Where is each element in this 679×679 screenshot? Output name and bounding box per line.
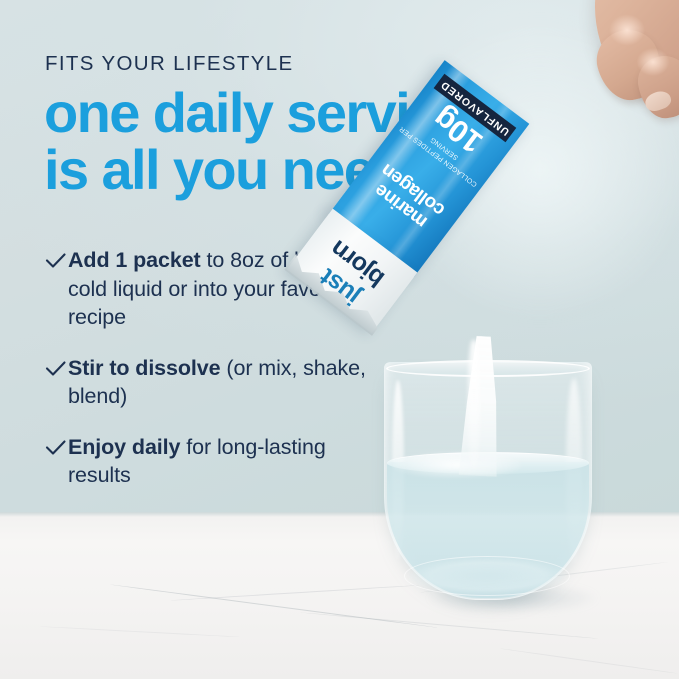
knuckle-highlight (632, 44, 674, 80)
list-item-bold: Add 1 packet (68, 248, 201, 272)
list-item-bold: Enjoy daily (68, 435, 180, 459)
eyebrow-text: FITS YOUR LIFESTYLE (45, 52, 294, 76)
check-icon (44, 356, 68, 382)
list-item: Stir to dissolve (or mix, shake, blend) (44, 354, 374, 411)
list-item: Enjoy daily for long-lasting results (44, 433, 374, 490)
check-icon (44, 435, 68, 461)
list-item-text: Stir to dissolve (or mix, shake, blend) (68, 354, 374, 411)
glass-base (404, 556, 570, 596)
knuckle-highlight (604, 10, 650, 50)
lifestyle-promo-image: FITS YOUR LIFESTYLE one daily serving is… (0, 0, 679, 679)
dissolving-powder-cloud (392, 452, 522, 478)
list-item-text: Enjoy daily for long-lasting results (68, 433, 374, 490)
check-icon (44, 248, 68, 274)
powder-stream-highlight (468, 340, 480, 468)
list-item-bold: Stir to dissolve (68, 356, 221, 380)
